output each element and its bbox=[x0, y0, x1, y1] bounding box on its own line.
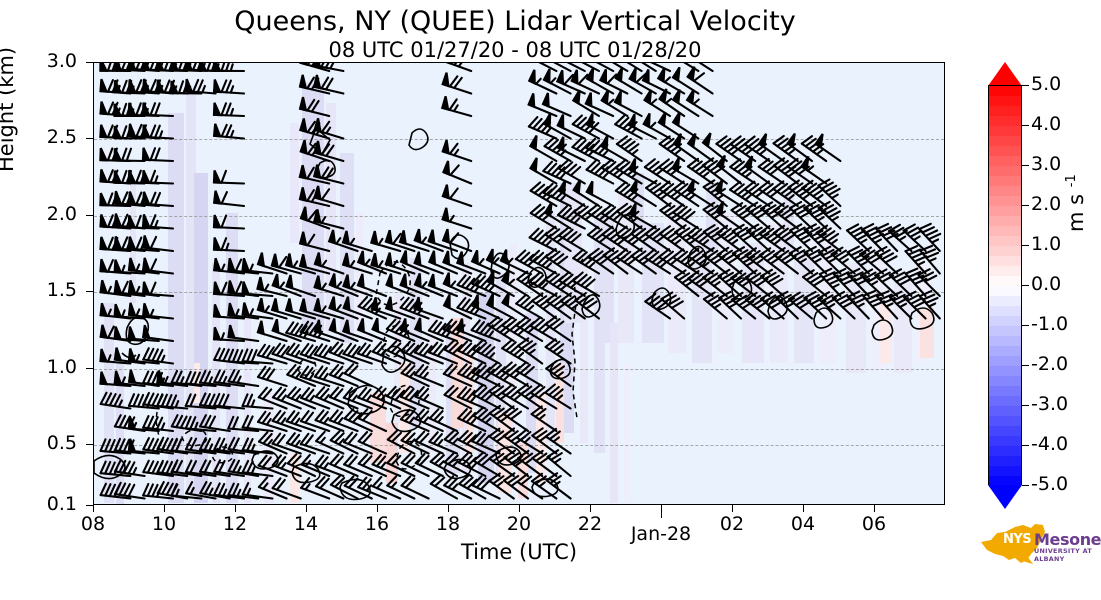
wind-barb bbox=[531, 182, 557, 206]
x-tick-mark bbox=[377, 505, 378, 512]
x-tick-mark bbox=[164, 505, 165, 512]
colorbar-tick-label: -3.0 bbox=[1031, 393, 1068, 415]
wind-barb bbox=[258, 367, 287, 386]
nys-mesonet-logo: NYS Mesonet UNIVERSITY AT ALBANY bbox=[975, 520, 1097, 570]
colorbar-segment bbox=[989, 116, 1021, 127]
colorbar-tick-label: 5.0 bbox=[1031, 73, 1061, 95]
wind-barb bbox=[443, 208, 472, 229]
wind-barb bbox=[143, 214, 173, 228]
y-tick-mark bbox=[86, 138, 93, 139]
colorbar-segment bbox=[989, 126, 1021, 137]
colorbar-tick-mark bbox=[1022, 245, 1029, 246]
page-title: Queens, NY (QUEE) Lidar Vertical Velocit… bbox=[0, 6, 1030, 37]
colorbar-segment bbox=[989, 206, 1021, 217]
wind-barb bbox=[214, 170, 244, 183]
wind-barb bbox=[546, 361, 570, 386]
wind-barb bbox=[200, 415, 230, 431]
x-tick-mark bbox=[732, 505, 733, 512]
wind-barbs bbox=[94, 63, 944, 504]
wind-barb bbox=[115, 148, 145, 161]
wind-barb bbox=[143, 416, 173, 431]
x-tick-label: 04 bbox=[768, 513, 838, 535]
wind-barb bbox=[443, 140, 471, 161]
colorbar-tick-mark bbox=[1022, 165, 1029, 166]
wind-barb bbox=[559, 227, 585, 251]
x-tick-label: 14 bbox=[271, 513, 341, 535]
colorbar-segment bbox=[989, 376, 1021, 387]
colorbar-segment bbox=[989, 106, 1021, 117]
x-tick-mark bbox=[803, 505, 804, 512]
colorbar-segment bbox=[989, 186, 1021, 197]
wind-barb bbox=[442, 96, 471, 116]
y-tick-label: 1.0 bbox=[17, 356, 77, 378]
colorbar-segment bbox=[989, 196, 1021, 207]
wind-barb bbox=[516, 295, 542, 318]
wind-barb bbox=[301, 478, 329, 498]
colorbar-segment bbox=[989, 136, 1021, 147]
lidar-vertical-velocity-figure: Queens, NY (QUEE) Lidar Vertical Velocit… bbox=[0, 0, 1101, 600]
wind-barb bbox=[214, 191, 244, 206]
wind-barb bbox=[229, 325, 259, 341]
colorbar-segment bbox=[989, 436, 1021, 447]
colorbar-segment bbox=[989, 256, 1021, 267]
x-tick-label: 20 bbox=[484, 513, 554, 535]
wind-barb bbox=[344, 433, 372, 454]
wind-barb bbox=[388, 431, 415, 454]
colorbar-tick-mark bbox=[1022, 485, 1029, 486]
wind-barb bbox=[157, 394, 187, 408]
colorbar-tick-mark bbox=[1022, 325, 1029, 326]
y-tick-mark bbox=[86, 444, 93, 445]
colorbar-segment bbox=[989, 266, 1021, 277]
wind-barb bbox=[143, 236, 173, 252]
wind-barb bbox=[143, 348, 173, 363]
x-tick-mark bbox=[235, 505, 236, 512]
colorbar-segment bbox=[989, 406, 1021, 417]
x-tick-mark bbox=[448, 505, 449, 512]
wind-barb bbox=[143, 282, 173, 296]
y-tick-mark bbox=[86, 505, 93, 506]
wind-barb bbox=[358, 478, 386, 499]
wind-barb bbox=[443, 185, 471, 206]
wind-barb bbox=[115, 483, 145, 499]
wind-barb bbox=[143, 170, 173, 183]
x-tick-label: 16 bbox=[342, 513, 412, 535]
x-tick-mark bbox=[874, 505, 875, 512]
x-tick-mark bbox=[93, 505, 94, 512]
wind-barb bbox=[502, 340, 528, 364]
colorbar-segment bbox=[989, 146, 1021, 157]
colorbar-tick-mark bbox=[1022, 445, 1029, 446]
wind-barb bbox=[444, 161, 472, 184]
logo-university-text: UNIVERSITY AT ALBANY bbox=[1034, 547, 1097, 563]
x-tick-label: 12 bbox=[200, 513, 270, 535]
wind-barb bbox=[587, 181, 613, 206]
colorbar-tick-label: -2.0 bbox=[1031, 353, 1068, 375]
colorbar-segment bbox=[989, 386, 1021, 397]
colorbar-gradient bbox=[988, 85, 1022, 485]
colorbar-tick-mark bbox=[1022, 85, 1029, 86]
x-tick-mark bbox=[306, 505, 307, 512]
x-tick-label: 06 bbox=[839, 513, 909, 535]
logo-nys-text: NYS bbox=[1003, 532, 1031, 547]
colorbar-segment bbox=[989, 226, 1021, 237]
colorbar-over-arrow bbox=[988, 62, 1022, 86]
colorbar bbox=[988, 62, 1022, 508]
colorbar-tick-mark bbox=[1022, 285, 1029, 286]
plot-area bbox=[93, 62, 945, 505]
wind-barb bbox=[402, 431, 429, 453]
wind-barb bbox=[186, 79, 216, 93]
wind-barb bbox=[300, 232, 329, 251]
colorbar-segment bbox=[989, 96, 1021, 107]
y-tick-label: 0.5 bbox=[17, 432, 77, 454]
y-tick-label: 2.0 bbox=[17, 203, 77, 225]
wind-barb bbox=[214, 238, 244, 251]
colorbar-tick-mark bbox=[1022, 405, 1029, 406]
wind-barb bbox=[558, 137, 585, 161]
wind-barb bbox=[243, 258, 273, 273]
colorbar-tick-mark bbox=[1022, 365, 1029, 366]
wind-barb bbox=[214, 124, 244, 139]
wind-barb bbox=[687, 227, 712, 251]
colorbar-segment bbox=[989, 366, 1021, 377]
colorbar-tick-label: 4.0 bbox=[1031, 113, 1061, 135]
y-tick-mark bbox=[86, 368, 93, 369]
wind-barb bbox=[415, 365, 443, 386]
x-axis-label: Time (UTC) bbox=[93, 540, 945, 564]
colorbar-tick-label: 3.0 bbox=[1031, 153, 1061, 175]
colorbar-tick-label: -5.0 bbox=[1031, 473, 1068, 495]
wind-barb bbox=[558, 115, 585, 139]
wind-barb bbox=[645, 294, 670, 319]
colorbar-segment bbox=[989, 216, 1021, 227]
x-tick-label: 08 bbox=[58, 513, 128, 535]
colorbar-segment bbox=[989, 316, 1021, 327]
wind-barb bbox=[615, 91, 642, 116]
colorbar-segment bbox=[989, 86, 1021, 97]
x-tick-label: 10 bbox=[129, 513, 199, 535]
wind-barb bbox=[143, 103, 173, 116]
colorbar-segment bbox=[989, 356, 1021, 367]
colorbar-under-arrow bbox=[988, 485, 1022, 509]
wind-barb bbox=[443, 73, 472, 94]
y-axis-label: Height (km) bbox=[0, 47, 18, 172]
colorbar-segment bbox=[989, 176, 1021, 187]
x-tick-label: 02 bbox=[697, 513, 767, 535]
colorbar-segment bbox=[989, 336, 1021, 347]
colorbar-segment bbox=[989, 396, 1021, 407]
colorbar-tick-label: -1.0 bbox=[1031, 313, 1068, 335]
wind-barb bbox=[457, 298, 485, 319]
colorbar-segment bbox=[989, 306, 1021, 317]
wind-barb bbox=[143, 125, 173, 139]
wind-barb bbox=[431, 475, 457, 498]
colorbar-tick-mark bbox=[1022, 205, 1029, 206]
wind-barb bbox=[214, 80, 244, 94]
colorbar-segment bbox=[989, 426, 1021, 437]
colorbar-unit-label: m s -1 bbox=[1064, 174, 1088, 232]
x-tick-mark bbox=[661, 505, 662, 518]
wind-barb bbox=[615, 116, 641, 139]
y-tick-mark bbox=[86, 62, 93, 63]
colorbar-segment bbox=[989, 236, 1021, 247]
colorbar-segment bbox=[989, 246, 1021, 257]
wind-barb bbox=[214, 103, 244, 116]
y-tick-label: 3.0 bbox=[17, 50, 77, 72]
wind-barb bbox=[143, 325, 173, 341]
colorbar-tick-label: -4.0 bbox=[1031, 433, 1068, 455]
x-tick-label: 18 bbox=[413, 513, 483, 535]
x-tick-mark bbox=[590, 505, 591, 512]
wind-barb bbox=[214, 215, 244, 228]
wind-barb bbox=[258, 277, 287, 296]
colorbar-segment bbox=[989, 286, 1021, 297]
y-tick-label: 1.5 bbox=[17, 279, 77, 301]
wind-barb bbox=[774, 203, 798, 228]
wind-barb bbox=[101, 393, 131, 409]
wind-barb bbox=[115, 460, 145, 476]
colorbar-tick-label: 1.0 bbox=[1031, 233, 1061, 255]
page-subtitle: 08 UTC 01/27/20 - 08 UTC 01/28/20 bbox=[0, 38, 1030, 62]
wind-barb bbox=[546, 339, 571, 363]
wind-barb bbox=[588, 205, 614, 229]
colorbar-segment bbox=[989, 456, 1021, 467]
colorbar-segment bbox=[989, 326, 1021, 337]
colorbar-segment bbox=[989, 446, 1021, 457]
colorbar-tick-label: 0.0 bbox=[1031, 273, 1061, 295]
wind-barb bbox=[143, 303, 173, 318]
wind-barb bbox=[143, 258, 173, 274]
wind-barb bbox=[143, 192, 173, 206]
wind-barb bbox=[443, 63, 471, 71]
wind-barb bbox=[630, 203, 656, 228]
x-tick-label: 22 bbox=[555, 513, 625, 535]
x-tick-mark bbox=[519, 505, 520, 512]
colorbar-tick-label: 2.0 bbox=[1031, 193, 1061, 215]
y-tick-label: 2.5 bbox=[17, 126, 77, 148]
colorbar-segment bbox=[989, 296, 1021, 307]
y-tick-mark bbox=[86, 215, 93, 216]
y-tick-mark bbox=[86, 291, 93, 292]
colorbar-segment bbox=[989, 156, 1021, 167]
wind-barb bbox=[143, 148, 173, 161]
y-tick-label: 0.1 bbox=[17, 493, 77, 515]
wind-barb bbox=[532, 406, 557, 431]
wind-barb bbox=[300, 97, 329, 116]
colorbar-segment bbox=[989, 276, 1021, 287]
colorbar-segment bbox=[989, 346, 1021, 357]
wind-barb bbox=[214, 394, 244, 409]
wind-barb bbox=[517, 430, 542, 454]
colorbar-segment bbox=[989, 466, 1021, 477]
colorbar-segment bbox=[989, 416, 1021, 427]
colorbar-segment bbox=[989, 166, 1021, 177]
colorbar-tick-mark bbox=[1022, 125, 1029, 126]
